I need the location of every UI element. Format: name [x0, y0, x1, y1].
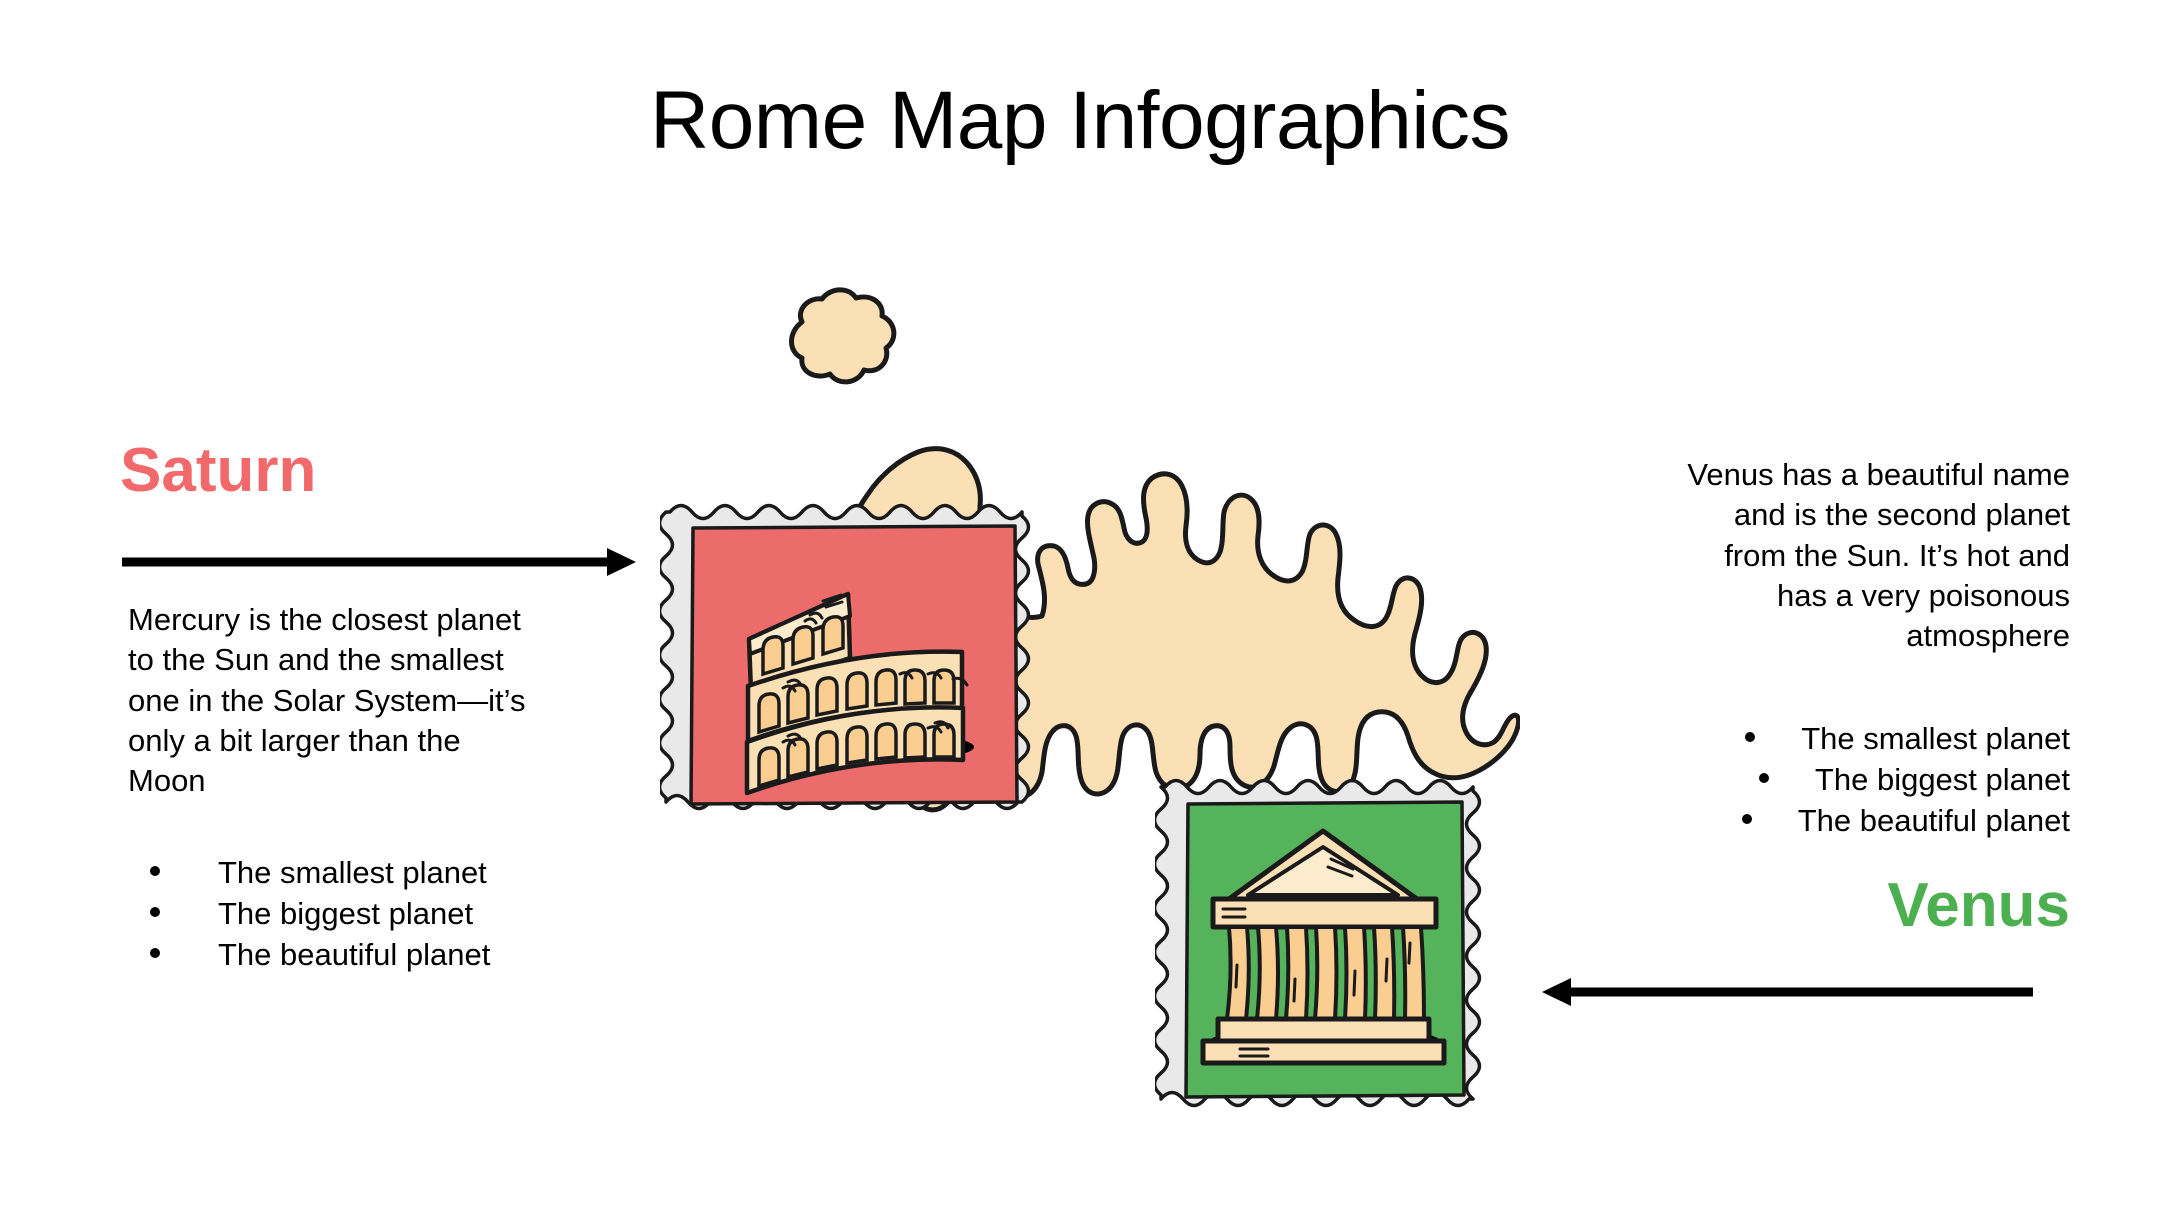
venus-label: Venus [1650, 875, 2070, 937]
list-item: The biggest planet [150, 893, 570, 934]
list-item: The beautiful planet [150, 934, 570, 975]
venus-description: Venus has a beautiful name and is the se… [1670, 455, 2070, 656]
list-item: The beautiful planet [1660, 800, 2070, 841]
bullet-text: The smallest planet [218, 852, 487, 893]
bullet-dot-icon [150, 866, 160, 876]
venus-arrow [1540, 975, 2035, 1009]
list-item: The smallest planet [1660, 718, 2070, 759]
saturn-label: Saturn [120, 440, 580, 502]
saturn-panel: Saturn [120, 440, 580, 520]
bullet-text: The smallest planet [1801, 718, 2070, 759]
bullet-dot-icon [1742, 814, 1752, 824]
bullet-text: The biggest planet [218, 893, 473, 934]
saturn-description: Mercury is the closest planet to the Sun… [128, 600, 538, 801]
colosseum-stamp [660, 500, 1060, 855]
venus-bullet-list: The smallest planet The biggest planet T… [1660, 718, 2070, 842]
saturn-arrow [120, 545, 640, 579]
bullet-dot-icon [150, 948, 160, 958]
page-title: Rome Map Infographics [0, 78, 2160, 164]
bullet-dot-icon [1759, 773, 1769, 783]
bullet-dot-icon [1745, 732, 1755, 742]
bullet-text: The beautiful planet [218, 934, 490, 975]
bullet-dot-icon [150, 907, 160, 917]
list-item: The smallest planet [150, 852, 570, 893]
pantheon-stamp [1155, 775, 1510, 1150]
saturn-bullet-list: The smallest planet The biggest planet T… [150, 852, 570, 976]
list-item: The biggest planet [1660, 759, 2070, 800]
slide-canvas: Rome Map Infographics [0, 0, 2160, 1215]
bullet-text: The beautiful planet [1798, 800, 2070, 841]
bullet-text: The biggest planet [1815, 759, 2070, 800]
